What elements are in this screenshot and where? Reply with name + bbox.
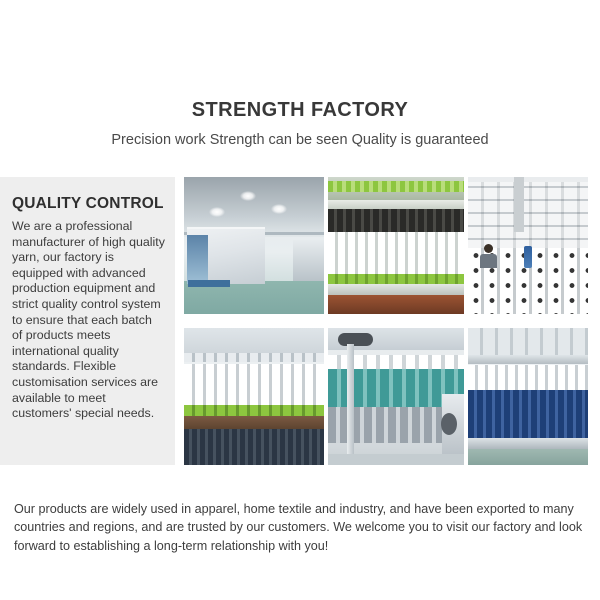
- floor-region: [328, 454, 464, 465]
- worker-body: [480, 254, 497, 268]
- promo-page: STRENGTH FACTORY Precision work Strength…: [0, 0, 600, 600]
- right-machine: [293, 240, 324, 281]
- yarn-warehouse-photo: [468, 177, 588, 314]
- white-cone-row: [468, 365, 588, 392]
- page-title: STRENGTH FACTORY: [0, 98, 600, 122]
- air-duct: [338, 333, 373, 345]
- rust-floor-strip: [328, 295, 464, 314]
- green-tip-row: [328, 274, 464, 284]
- quality-control-heading: QUALITY CONTROL: [12, 195, 165, 213]
- ceiling-lamp-icon: [240, 191, 256, 201]
- floor-region: [468, 449, 588, 465]
- black-roller-row: [328, 209, 464, 232]
- machine-shelf: [328, 200, 464, 208]
- ceiling-region: [468, 328, 588, 355]
- blue-cabinet: [187, 235, 208, 284]
- winding-machine-photo: [468, 328, 588, 465]
- green-guide-row: [328, 181, 464, 192]
- support-post: [347, 344, 354, 454]
- worker-head: [484, 244, 493, 253]
- green-tip-row: [184, 405, 324, 416]
- page-subtitle: Precision work Strength can be seen Qual…: [0, 130, 600, 150]
- upper-rail: [184, 353, 324, 363]
- factory-hall-photo: [184, 177, 324, 314]
- mid-frame-band: [184, 416, 324, 430]
- content-band: QUALITY CONTROL We are a professional ma…: [0, 177, 600, 465]
- quality-control-body: We are a professional manufacturer of hi…: [12, 219, 165, 422]
- bagged-stock-wall: [468, 182, 588, 251]
- white-bobbin-row: [184, 364, 324, 408]
- spinning-machine-photo: [328, 177, 464, 314]
- twisting-machine-photo: [328, 328, 464, 465]
- upper-rail: [468, 355, 588, 363]
- gallery-grid: [184, 177, 588, 465]
- ceiling-region: [184, 328, 324, 353]
- footer-paragraph: Our products are widely used in apparel,…: [14, 500, 586, 556]
- warehouse-pillar: [514, 177, 525, 232]
- machine-base: [328, 284, 464, 295]
- lower-spindle-row: [184, 429, 324, 465]
- quality-control-panel: QUALITY CONTROL We are a professional ma…: [0, 177, 175, 465]
- page-header: STRENGTH FACTORY Precision work Strength…: [0, 0, 600, 150]
- spinning-frame-photo: [184, 328, 324, 465]
- blue-container: [524, 246, 532, 268]
- blue-base-strip: [188, 280, 230, 287]
- machine-base: [468, 438, 588, 449]
- blue-spindle-row: [468, 390, 588, 439]
